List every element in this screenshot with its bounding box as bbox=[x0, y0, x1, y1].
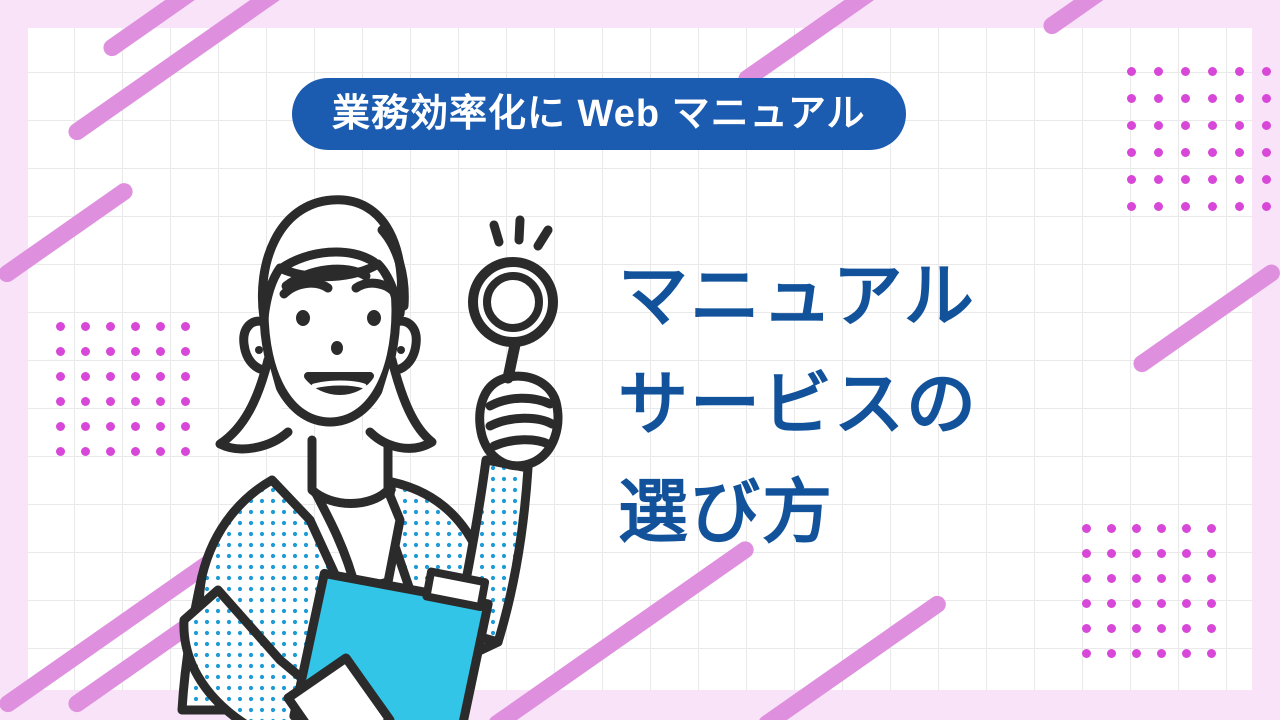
decorative-dot bbox=[1132, 599, 1141, 608]
decorative-dot bbox=[1181, 94, 1190, 103]
decorative-dot bbox=[1181, 175, 1190, 184]
decorative-dot bbox=[1181, 67, 1190, 76]
decorative-dot bbox=[1082, 599, 1091, 608]
decorative-dot bbox=[1132, 624, 1141, 633]
decorative-dot bbox=[1207, 549, 1216, 558]
decorative-dot bbox=[1182, 649, 1191, 658]
decorative-dot bbox=[1182, 599, 1191, 608]
decorative-dot bbox=[1157, 549, 1166, 558]
decorative-dot bbox=[1262, 94, 1271, 103]
decorative-dot bbox=[106, 397, 115, 406]
decorative-dot bbox=[1154, 148, 1163, 157]
decorative-dot bbox=[1208, 121, 1217, 130]
decorative-dot bbox=[1262, 121, 1271, 130]
decorative-dot bbox=[56, 372, 65, 381]
decorative-dot bbox=[106, 322, 115, 331]
poster-canvas: 業務効率化に Web マニュアル マニュアル サービスの 選び方 bbox=[0, 0, 1280, 720]
decorative-dot bbox=[1207, 574, 1216, 583]
woman-with-magnifier-illustration bbox=[160, 190, 580, 700]
decorative-dot bbox=[1208, 148, 1217, 157]
decorative-dot bbox=[81, 347, 90, 356]
decorative-dot bbox=[106, 422, 115, 431]
sparkle-icon bbox=[494, 220, 548, 246]
decorative-dot bbox=[1107, 624, 1116, 633]
tagline-pill-banner: 業務効率化に Web マニュアル bbox=[292, 78, 906, 150]
decorative-dot bbox=[81, 422, 90, 431]
decorative-dot bbox=[1154, 94, 1163, 103]
decorative-dot bbox=[1262, 175, 1271, 184]
decorative-dot bbox=[1157, 599, 1166, 608]
decorative-dot bbox=[1127, 121, 1136, 130]
decorative-dot bbox=[1154, 121, 1163, 130]
decorative-dot bbox=[1182, 624, 1191, 633]
decorative-dot bbox=[1154, 202, 1163, 211]
decorative-dot bbox=[81, 447, 90, 456]
decorative-dot bbox=[1132, 649, 1141, 658]
decorative-dot bbox=[1207, 624, 1216, 633]
decorative-dot bbox=[106, 372, 115, 381]
decorative-dot bbox=[1107, 574, 1116, 583]
decorative-dot bbox=[1235, 148, 1244, 157]
decorative-dot bbox=[1182, 574, 1191, 583]
decorative-dot bbox=[1154, 67, 1163, 76]
decorative-dot bbox=[131, 372, 140, 381]
decorative-dot bbox=[81, 372, 90, 381]
decorative-dot bbox=[1235, 67, 1244, 76]
decorative-dot bbox=[1182, 524, 1191, 533]
tagline-text: 業務効率化に Web マニュアル bbox=[332, 95, 866, 133]
decorative-dot bbox=[1262, 202, 1271, 211]
decorative-dot bbox=[56, 397, 65, 406]
dot-grid-top-right bbox=[1127, 67, 1280, 229]
decorative-dot bbox=[1154, 175, 1163, 184]
decorative-dot bbox=[106, 447, 115, 456]
decorative-dot bbox=[1157, 649, 1166, 658]
decorative-dot bbox=[1127, 94, 1136, 103]
decorative-dot bbox=[1235, 94, 1244, 103]
decorative-dot bbox=[1127, 175, 1136, 184]
decorative-dot bbox=[1082, 574, 1091, 583]
decorative-dot bbox=[131, 322, 140, 331]
decorative-dot bbox=[1157, 524, 1166, 533]
decorative-dot bbox=[1262, 67, 1271, 76]
decorative-dot bbox=[1262, 148, 1271, 157]
page-title: マニュアル サービスの 選び方 bbox=[618, 242, 1138, 566]
decorative-dot bbox=[1181, 148, 1190, 157]
decorative-dot bbox=[131, 422, 140, 431]
decorative-dot bbox=[1207, 524, 1216, 533]
decorative-dot bbox=[1127, 148, 1136, 157]
decorative-dot bbox=[1207, 649, 1216, 658]
decorative-dot bbox=[1157, 624, 1166, 633]
decorative-dot bbox=[1181, 202, 1190, 211]
decorative-dot bbox=[1208, 67, 1217, 76]
decorative-dot bbox=[1107, 599, 1116, 608]
decorative-dot bbox=[1182, 549, 1191, 558]
decorative-dot bbox=[1235, 202, 1244, 211]
decorative-dot bbox=[56, 322, 65, 331]
decorative-dot bbox=[1082, 649, 1091, 658]
decorative-dot bbox=[1181, 121, 1190, 130]
decorative-dot bbox=[106, 347, 115, 356]
decorative-dot bbox=[1207, 599, 1216, 608]
decorative-dot bbox=[1127, 202, 1136, 211]
decorative-dot bbox=[56, 422, 65, 431]
decorative-dot bbox=[1208, 202, 1217, 211]
decorative-dot bbox=[1208, 175, 1217, 184]
decorative-dot bbox=[1132, 574, 1141, 583]
decorative-dot bbox=[1235, 121, 1244, 130]
decorative-dot bbox=[131, 347, 140, 356]
decorative-dot bbox=[56, 347, 65, 356]
decorative-dot bbox=[1157, 574, 1166, 583]
decorative-dot bbox=[56, 447, 65, 456]
decorative-dot bbox=[1082, 624, 1091, 633]
decorative-dot bbox=[81, 397, 90, 406]
decorative-dot bbox=[1127, 67, 1136, 76]
decorative-dot bbox=[131, 397, 140, 406]
decorative-dot bbox=[1107, 649, 1116, 658]
decorative-dot bbox=[131, 447, 140, 456]
decorative-dot bbox=[1235, 175, 1244, 184]
decorative-dot bbox=[1208, 94, 1217, 103]
decorative-dot bbox=[81, 322, 90, 331]
